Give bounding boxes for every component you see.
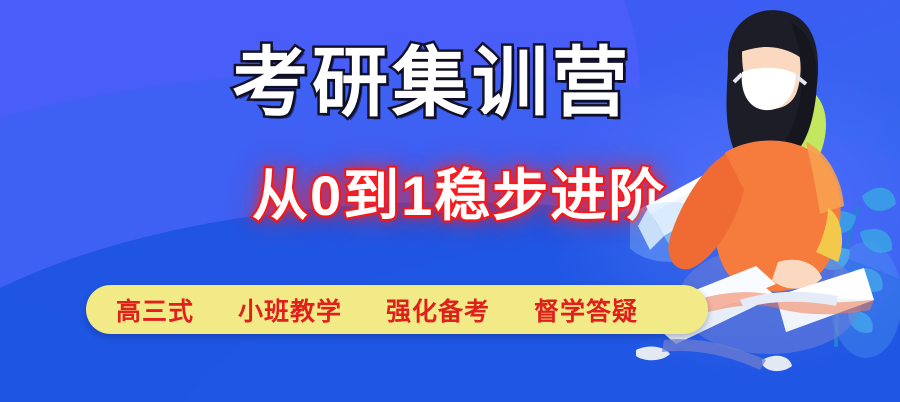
student-illustration bbox=[630, 0, 900, 402]
promo-banner: 考研集训营 从0到1稳步进阶 高三式 小班教学 强化备考 督学答疑 bbox=[0, 0, 900, 402]
feature-tag-1: 高三式 bbox=[116, 292, 194, 328]
feature-tag-4: 督学答疑 bbox=[534, 292, 638, 328]
banner-subtitle: 从0到1稳步进阶 bbox=[252, 168, 666, 224]
feature-tag-pill: 高三式 小班教学 强化备考 督学答疑 bbox=[86, 285, 708, 334]
banner-title: 考研集训营 bbox=[232, 46, 632, 122]
feature-tag-3: 强化备考 bbox=[386, 292, 490, 328]
feature-tag-2: 小班教学 bbox=[238, 292, 342, 328]
